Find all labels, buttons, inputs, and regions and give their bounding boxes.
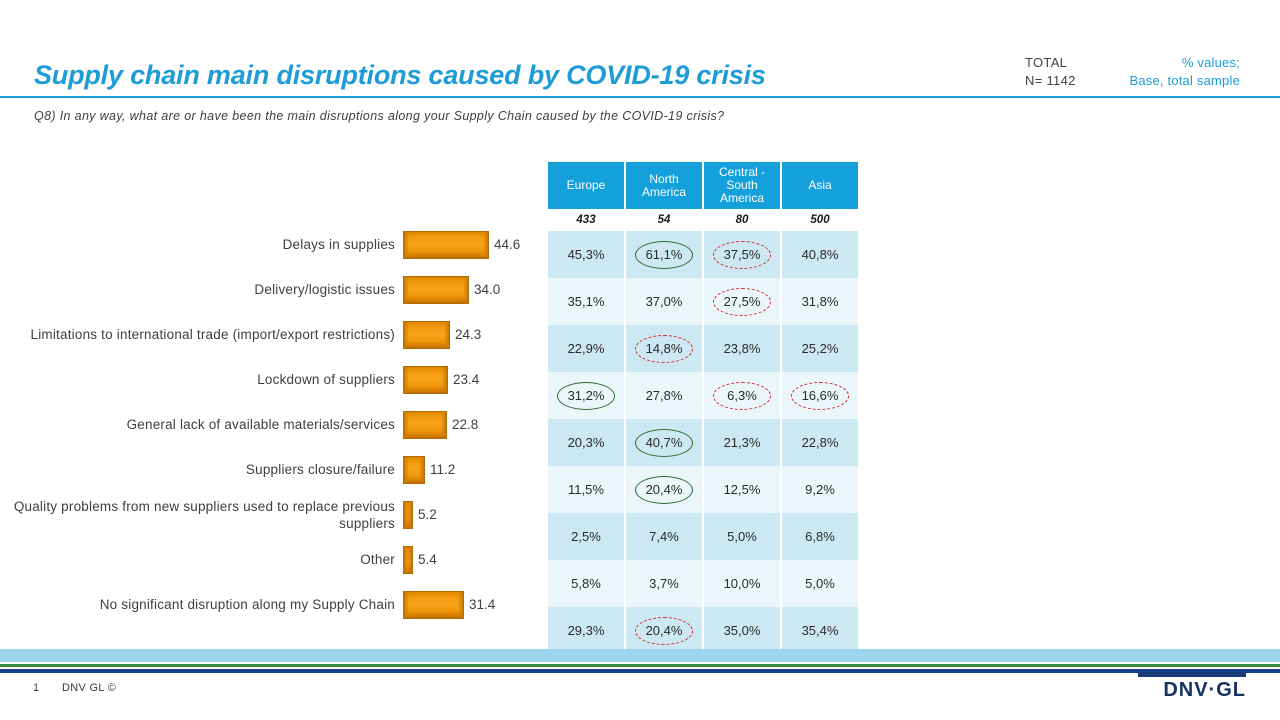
dnvgl-logo: DNV·GL xyxy=(1138,672,1246,701)
chart-row: Other5.4 xyxy=(0,537,540,582)
chart-bar-value: 11.2 xyxy=(430,462,455,477)
table-cell: 21,3% xyxy=(703,419,781,466)
table-cell: 20,4% xyxy=(625,466,703,513)
chart-category-label: Suppliers closure/failure xyxy=(0,461,403,478)
table-cell: 7,4% xyxy=(625,513,703,560)
table-cell: 14,8% xyxy=(625,325,703,372)
chart-row: Lockdown of suppliers23.4 xyxy=(0,357,540,402)
total-label: TOTAL xyxy=(1025,54,1076,72)
chart-bar xyxy=(403,591,464,619)
chart-row: Delivery/logistic issues34.0 xyxy=(0,267,540,312)
logo-wordmark: DNV·GL xyxy=(1138,679,1246,701)
table-cell-value: 40,8% xyxy=(796,244,845,265)
table-cell-value: 16,6% xyxy=(796,385,845,406)
table-cell-value: 10,0% xyxy=(718,573,767,594)
title-divider xyxy=(0,96,1280,98)
table-cell-value: 14,8% xyxy=(640,338,689,359)
base-note-block: % values; Base, total sample xyxy=(1108,54,1240,90)
table-cell-value: 6,3% xyxy=(721,385,763,406)
chart-bar-value: 23.4 xyxy=(453,372,479,387)
logo-accent-bar xyxy=(1138,672,1246,677)
bar-chart: Delays in supplies44.6Delivery/logistic … xyxy=(0,222,540,632)
table-cell-value: 61,1% xyxy=(640,244,689,265)
footer-band-navy xyxy=(0,669,1280,673)
chart-row: Limitations to international trade (impo… xyxy=(0,312,540,357)
table-cell-value: 40,7% xyxy=(640,432,689,453)
table-cell-value: 20,3% xyxy=(562,432,611,453)
table-cell-value: 25,2% xyxy=(796,338,845,359)
table-cell: 40,7% xyxy=(625,419,703,466)
table-cell: 20,3% xyxy=(548,419,625,466)
question-text: Q8) In any way, what are or have been th… xyxy=(34,109,724,123)
copyright-notice: DNV GL © xyxy=(62,682,116,694)
table-cell: 31,8% xyxy=(781,278,858,325)
table-cell-value: 27,5% xyxy=(718,291,767,312)
chart-bar-wrap: 24.3 xyxy=(403,312,540,357)
chart-row: Quality problems from new suppliers used… xyxy=(0,492,540,537)
table-cell: 3,7% xyxy=(625,560,703,607)
footer-band-lightblue xyxy=(0,649,1280,662)
chart-bar-wrap: 22.8 xyxy=(403,402,540,447)
chart-bar-value: 5.2 xyxy=(418,507,437,522)
table-cell: 6,3% xyxy=(703,372,781,419)
table-cell-value: 5,8% xyxy=(565,573,607,594)
chart-row: Suppliers closure/failure11.2 xyxy=(0,447,540,492)
table-cell-value: 12,5% xyxy=(718,479,767,500)
chart-bar xyxy=(403,276,469,304)
table-cell: 61,1% xyxy=(625,231,703,278)
table-cell-value: 3,7% xyxy=(643,573,685,594)
total-n-value: N= 1142 xyxy=(1025,72,1076,90)
table-cell-value: 22,9% xyxy=(562,338,611,359)
chart-bar xyxy=(403,231,489,259)
table-row: 20,3%40,7%21,3%22,8% xyxy=(548,419,858,466)
table-cell: 35,0% xyxy=(703,607,781,654)
table-row: 31,2%27,8%6,3%16,6% xyxy=(548,372,858,419)
table-cell: 10,0% xyxy=(703,560,781,607)
table-cell: 6,8% xyxy=(781,513,858,560)
chart-category-label: General lack of available materials/serv… xyxy=(0,416,403,433)
chart-bar xyxy=(403,411,447,439)
regions-table: EuropeNorth AmericaCentral - South Ameri… xyxy=(548,162,858,654)
table-cell: 27,8% xyxy=(625,372,703,419)
table-cell: 22,8% xyxy=(781,419,858,466)
chart-bar-wrap: 44.6 xyxy=(403,222,540,267)
percent-values-note: % values; xyxy=(1108,54,1240,72)
chart-bar-wrap: 31.4 xyxy=(403,582,540,627)
chart-category-label: Lockdown of suppliers xyxy=(0,371,403,388)
chart-bar xyxy=(403,456,425,484)
chart-bar xyxy=(403,501,413,529)
table-cell: 25,2% xyxy=(781,325,858,372)
table-cell: 37,5% xyxy=(703,231,781,278)
chart-category-label: Delivery/logistic issues xyxy=(0,281,403,298)
chart-bar-value: 22.8 xyxy=(452,417,478,432)
chart-bar-wrap: 34.0 xyxy=(403,267,540,312)
table-column-header[interactable]: Asia xyxy=(781,162,858,209)
table-row: 45,3%61,1%37,5%40,8% xyxy=(548,231,858,278)
table-cell: 31,2% xyxy=(548,372,625,419)
crosstab-table: EuropeNorth AmericaCentral - South Ameri… xyxy=(548,162,858,654)
table-cell: 35,4% xyxy=(781,607,858,654)
chart-row: Delays in supplies44.6 xyxy=(0,222,540,267)
chart-bar-value: 44.6 xyxy=(494,237,520,252)
table-cell: 23,8% xyxy=(703,325,781,372)
table-cell: 11,5% xyxy=(548,466,625,513)
table-cell: 37,0% xyxy=(625,278,703,325)
chart-bar xyxy=(403,321,450,349)
table-row: 29,3%20,4%35,0%35,4% xyxy=(548,607,858,654)
table-cell: 29,3% xyxy=(548,607,625,654)
chart-bar-value: 31.4 xyxy=(469,597,495,612)
chart-row: No significant disruption along my Suppl… xyxy=(0,582,540,627)
table-cell-value: 37,0% xyxy=(640,291,689,312)
chart-bar-value: 5.4 xyxy=(418,552,437,567)
table-base-row: 4335480500 xyxy=(548,209,858,231)
table-cell: 12,5% xyxy=(703,466,781,513)
table-cell: 40,8% xyxy=(781,231,858,278)
table-cell-value: 11,5% xyxy=(562,479,610,500)
chart-category-label: No significant disruption along my Suppl… xyxy=(0,596,403,613)
footer-band-green xyxy=(0,664,1280,667)
table-row: 2,5%7,4%5,0%6,8% xyxy=(548,513,858,560)
table-header-row: EuropeNorth AmericaCentral - South Ameri… xyxy=(548,162,858,209)
table-cell-value: 2,5% xyxy=(565,526,607,547)
table-cell-value: 21,3% xyxy=(718,432,767,453)
table-cell-value: 31,8% xyxy=(796,291,845,312)
table-cell: 5,8% xyxy=(548,560,625,607)
chart-bar-value: 24.3 xyxy=(455,327,481,342)
chart-category-label: Other xyxy=(0,551,403,568)
table-cell-value: 45,3% xyxy=(562,244,611,265)
table-cell-value: 37,5% xyxy=(718,244,767,265)
chart-bar-wrap: 23.4 xyxy=(403,357,540,402)
chart-category-label: Quality problems from new suppliers used… xyxy=(0,498,403,532)
table-cell: 45,3% xyxy=(548,231,625,278)
table-column-header[interactable]: North America xyxy=(625,162,703,209)
table-cell: 5,0% xyxy=(703,513,781,560)
chart-bar xyxy=(403,366,448,394)
table-cell: 5,0% xyxy=(781,560,858,607)
table-row: 35,1%37,0%27,5%31,8% xyxy=(548,278,858,325)
chart-bar xyxy=(403,546,413,574)
page-number: 1 xyxy=(33,682,39,694)
table-cell-value: 35,0% xyxy=(718,620,767,641)
table-cell-value: 22,8% xyxy=(796,432,845,453)
table-cell-value: 31,2% xyxy=(562,385,611,406)
table-base-value: 433 xyxy=(548,209,625,231)
base-total-sample-note: Base, total sample xyxy=(1108,72,1240,90)
table-cell: 20,4% xyxy=(625,607,703,654)
table-cell: 35,1% xyxy=(548,278,625,325)
table-body: 45,3%61,1%37,5%40,8%35,1%37,0%27,5%31,8%… xyxy=(548,231,858,654)
chart-row: General lack of available materials/serv… xyxy=(0,402,540,447)
chart-bar-value: 34.0 xyxy=(474,282,500,297)
table-cell-value: 23,8% xyxy=(718,338,767,359)
table-column-header[interactable]: Europe xyxy=(548,162,625,209)
table-cell-value: 20,4% xyxy=(640,620,689,641)
table-cell-value: 5,0% xyxy=(721,526,763,547)
chart-category-label: Limitations to international trade (impo… xyxy=(0,326,403,343)
table-cell-value: 7,4% xyxy=(643,526,685,547)
table-cell-value: 35,4% xyxy=(796,620,845,641)
table-row: 11,5%20,4%12,5%9,2% xyxy=(548,466,858,513)
table-cell: 16,6% xyxy=(781,372,858,419)
chart-bar-wrap: 5.4 xyxy=(403,537,540,582)
table-base-value: 54 xyxy=(625,209,703,231)
table-cell-value: 20,4% xyxy=(640,479,689,500)
table-cell: 22,9% xyxy=(548,325,625,372)
table-cell-value: 35,1% xyxy=(562,291,611,312)
table-cell: 9,2% xyxy=(781,466,858,513)
table-cell-value: 9,2% xyxy=(799,479,841,500)
table-column-header[interactable]: Central - South America xyxy=(703,162,781,209)
table-base-value: 500 xyxy=(781,209,858,231)
table-cell-value: 6,8% xyxy=(799,526,841,547)
chart-bar-wrap: 11.2 xyxy=(403,447,540,492)
table-row: 5,8%3,7%10,0%5,0% xyxy=(548,560,858,607)
table-cell-value: 27,8% xyxy=(640,385,689,406)
table-row: 22,9%14,8%23,8%25,2% xyxy=(548,325,858,372)
total-block: TOTAL N= 1142 xyxy=(1025,54,1076,90)
page-title: Supply chain main disruptions caused by … xyxy=(34,60,766,91)
table-base-value: 80 xyxy=(703,209,781,231)
table-cell-value: 5,0% xyxy=(799,573,841,594)
chart-bar-wrap: 5.2 xyxy=(403,492,540,537)
table-cell: 27,5% xyxy=(703,278,781,325)
table-cell: 2,5% xyxy=(548,513,625,560)
chart-category-label: Delays in supplies xyxy=(0,236,403,253)
table-cell-value: 29,3% xyxy=(562,620,611,641)
